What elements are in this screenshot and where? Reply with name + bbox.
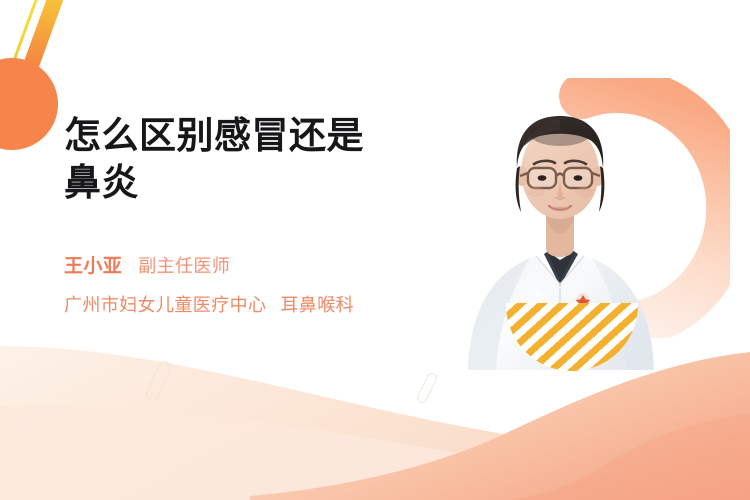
diagonal-yellow-thin-line-icon [1,0,47,93]
striped-half-circle-icon [506,303,638,371]
faint-outlined-diagonal-bar-icon [144,359,173,403]
orange-circle-icon [0,58,58,150]
doctor-professional-title: 副主任医师 [138,253,230,280]
text-block: 怎么区别感冒还是 鼻炎 王小亚 副主任医师 广州市妇女儿童医疗中心 耳鼻喉科 [64,112,444,319]
doctor-department: 耳鼻喉科 [280,292,354,319]
doctor-hospital: 广州市妇女儿童医疗中心 [64,292,266,319]
diagonal-orange-gradient-band-icon [16,0,72,87]
faint-outlined-diagonal-bar-secondary-icon [415,371,438,404]
doctor-meta: 王小亚 副主任医师 广州市妇女儿童医疗中心 耳鼻喉科 [64,253,444,320]
video-cover-card: 怎么区别感冒还是 鼻炎 王小亚 副主任医师 广州市妇女儿童医疗中心 耳鼻喉科 [0,0,750,500]
salmon-c-ring-arc-icon [498,78,730,338]
page-title: 怎么区别感冒还是 鼻炎 [64,112,444,207]
doctor-hospital-row: 广州市妇女儿童医疗中心 耳鼻喉科 [64,292,444,319]
doctor-name: 王小亚 [64,253,122,282]
doctor-name-row: 王小亚 副主任医师 [64,253,444,282]
